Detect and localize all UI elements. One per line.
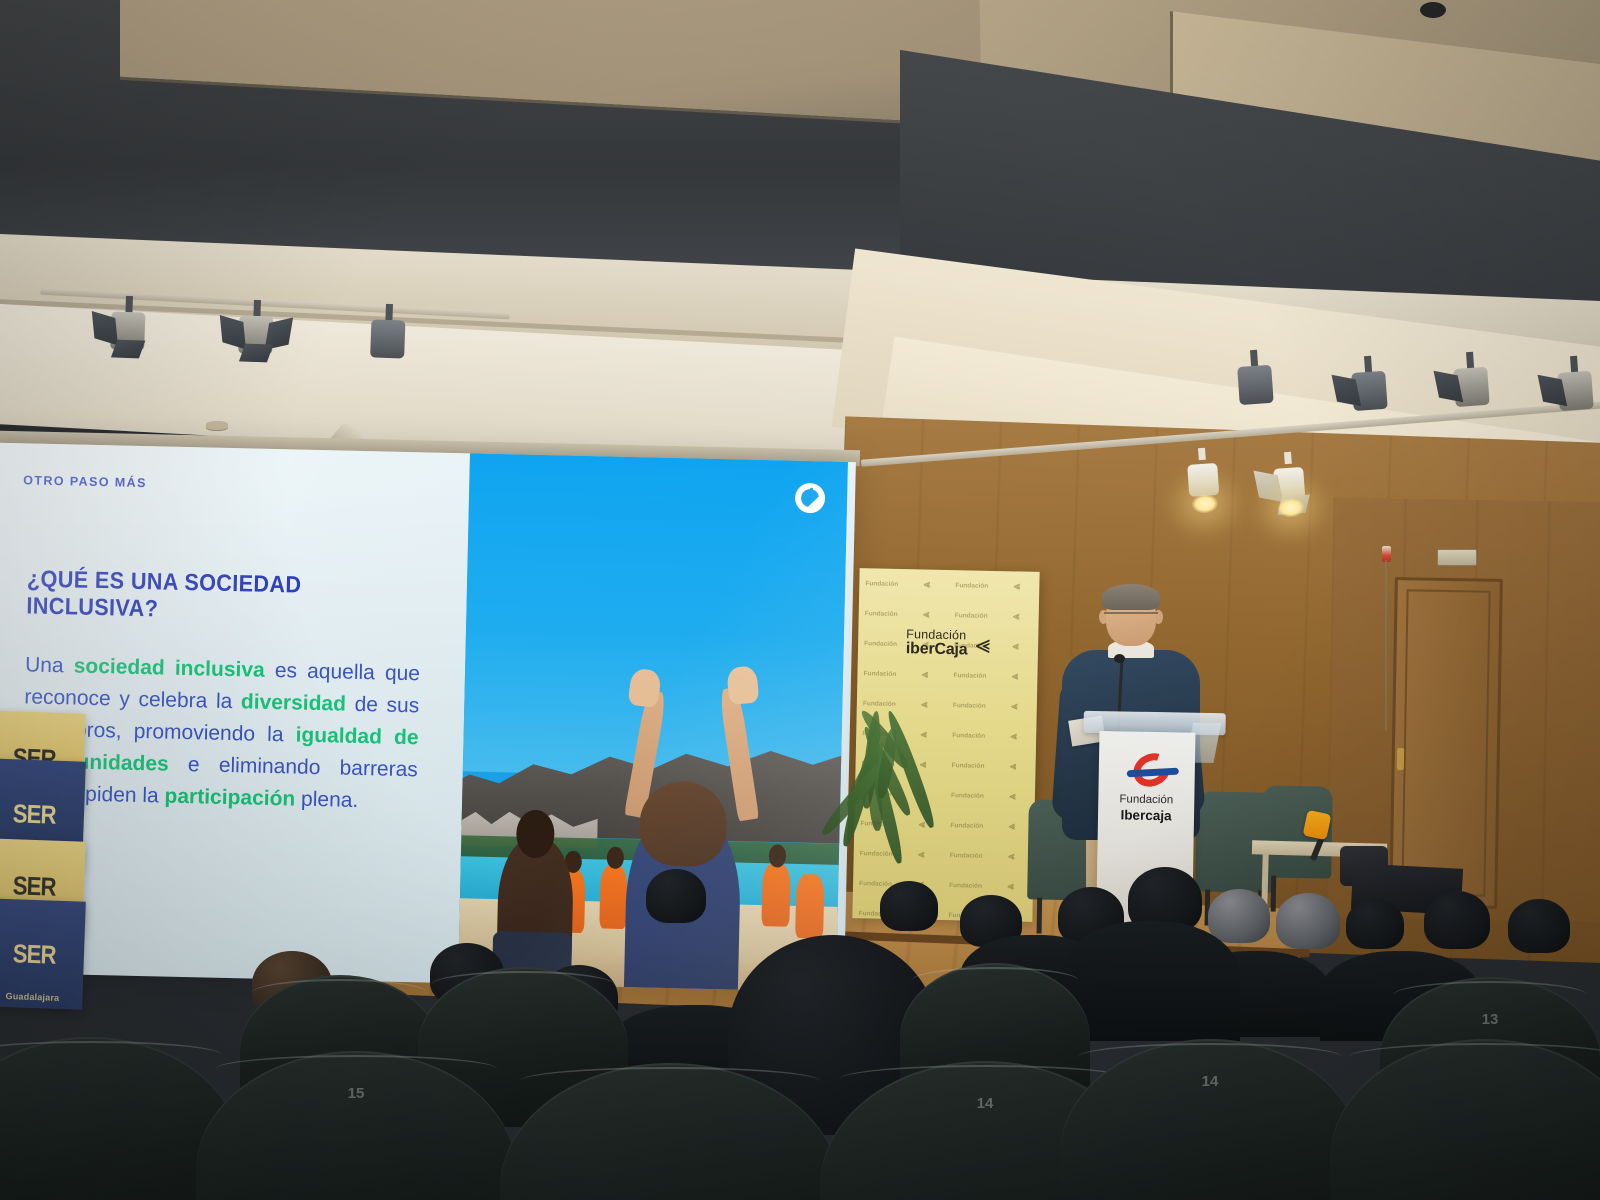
lectern-line-2: Ibercaja (1098, 807, 1194, 824)
banner-pattern-cell: ⪡ (902, 659, 948, 690)
banner-pattern-cell: Fundación (947, 660, 993, 691)
banner-line-2: iberCaja (906, 641, 968, 659)
audience-head (1208, 889, 1270, 943)
audience-head (646, 869, 706, 923)
seat-rim (252, 979, 428, 1007)
banner-pattern-glyph-icon: ⪡ (922, 669, 928, 680)
seat-rim (520, 1067, 819, 1095)
lamp-stem (1198, 448, 1206, 460)
banner-pattern-cell: ⪡ (991, 721, 1037, 752)
smoke-detector (206, 421, 228, 430)
banner-pattern-glyph-icon: ⪡ (924, 579, 930, 590)
indicator-rod (1385, 560, 1387, 730)
banner-pattern-glyph-icon: ⪡ (1013, 611, 1019, 622)
slide-highlight-term: diversidad (241, 690, 347, 715)
banner-pattern-cell: Fundación (859, 568, 905, 599)
seat-rim (0, 1041, 222, 1069)
ibercaja-logo-bar (1127, 768, 1179, 778)
banner-pattern-glyph-icon: ⪡ (1011, 701, 1017, 712)
banner-pattern-glyph-icon: ⪡ (1014, 581, 1020, 592)
banner-pattern-label: Fundación (865, 610, 898, 618)
banner-pattern-glyph-icon: ⪡ (1009, 821, 1015, 832)
seat-rim (911, 967, 1078, 995)
banner-pattern-glyph-icon: ⪡ (1012, 671, 1018, 682)
banner-pattern-glyph-icon: ⪡ (923, 609, 929, 620)
banner-pattern-label: Fundación (951, 792, 984, 800)
banner-pattern-glyph-icon: ⪡ (1010, 731, 1016, 742)
photo-crouching-man-head (516, 810, 555, 859)
seat-rim (1393, 981, 1587, 1009)
lectern-line-1: Fundación (1098, 793, 1194, 807)
banner-pattern-label: Fundación (955, 582, 988, 590)
slide-plain-text: Una (25, 653, 74, 677)
banner-pattern-cell: Fundación (946, 720, 992, 751)
banner-pattern-cell: Fundación (948, 600, 994, 631)
lamp-stem (1284, 452, 1292, 464)
slide-eyebrow: OTRO PASO MÁS (23, 473, 449, 497)
door-handle[interactable] (1397, 748, 1404, 770)
audience-head (1346, 899, 1404, 949)
banner-pattern-cell: Fundación (945, 750, 991, 781)
banner-pattern-glyph-icon: ⪡ (920, 759, 926, 770)
slide-highlight-term: participación (164, 784, 295, 810)
audience-head (1508, 899, 1570, 953)
banner-pattern-cell: ⪡ (992, 661, 1038, 692)
seat-number: 13 (1380, 1011, 1600, 1028)
seat-number: 15 (196, 1085, 516, 1102)
banner-pattern-label: Fundación (863, 670, 896, 678)
auditorium-photo: OTRO PASO MÁS ¿QUÉ ES UNA SOCIEDAD INCLU… (0, 0, 1600, 1200)
banner-main-logo: Fundación iberCaja ⪡ (858, 626, 1039, 662)
banner-pattern-cell: ⪡ (904, 569, 950, 600)
banner-pattern-label: Fundación (955, 612, 988, 620)
emergency-light-box (1437, 549, 1477, 566)
audience-head (1424, 891, 1490, 949)
ibercaja-logo (1127, 754, 1180, 789)
banner-pattern-cell: Fundación (949, 570, 995, 601)
glasses-icon (1104, 612, 1158, 621)
banner-pattern-label: Fundación (952, 762, 985, 770)
banner-pattern-label: Fundación (952, 732, 985, 740)
banner-pattern-cell: Fundación (857, 658, 903, 689)
seat-number: 14 (1060, 1073, 1360, 1090)
slide-plain-text: plena. (295, 787, 359, 811)
banner-pattern-label: Fundación (950, 822, 983, 830)
banner-pattern-cell: ⪡ (903, 599, 949, 630)
seat-rim (215, 1055, 497, 1083)
audience-area: 13151414 (0, 855, 1600, 1200)
ser-board-label: SER (12, 798, 56, 830)
banner-pattern-cell: Fundación (944, 810, 990, 841)
banner-pattern-cell: ⪡ (992, 691, 1038, 722)
banner-pattern-glyph-icon: ⪡ (1010, 761, 1016, 772)
banner-pattern-cell: ⪡ (994, 571, 1040, 602)
audience-head (1276, 893, 1340, 949)
banner-pattern-label: Fundación (865, 580, 898, 588)
lamp-housing (1187, 463, 1219, 497)
banner-pattern-glyph-icon: ⪡ (921, 699, 927, 710)
banner-pattern-cell: ⪡ (990, 751, 1036, 782)
banner-pattern-glyph-icon: ⪡ (920, 729, 926, 740)
audience-head (880, 881, 938, 931)
banner-pattern-cell: ⪡ (902, 689, 948, 720)
banner-pattern-cell: Fundación (945, 780, 991, 811)
audience-seat[interactable] (1330, 1039, 1600, 1200)
slide-highlight-term: sociedad inclusiva (73, 654, 265, 681)
banner-pattern-label: Fundación (953, 702, 986, 710)
ceiling-speaker-grille (1420, 2, 1446, 18)
seat-rim (1349, 1043, 1600, 1071)
banner-pattern-cell: ⪡ (993, 601, 1039, 632)
audience-seat[interactable] (500, 1063, 840, 1200)
lectern-microphone-head (1114, 654, 1125, 663)
lamp-housing (370, 319, 405, 358)
ibercaja-glyph-icon: ⪡ (975, 629, 990, 661)
presenter-hair (1102, 584, 1160, 610)
seat-rim (1078, 1043, 1342, 1071)
seat-rim (431, 971, 616, 999)
lamp-housing (1237, 365, 1274, 405)
banner-pattern-cell: Fundación (858, 598, 904, 629)
audience-seat[interactable]: 14 (1060, 1039, 1360, 1200)
banner-pattern-glyph-icon: ⪡ (1009, 791, 1015, 802)
banner-pattern-cell: ⪡ (990, 781, 1036, 812)
slide-title: ¿QUÉ ES UNA SOCIEDAD INCLUSIVA? (26, 565, 414, 628)
banner-pattern-label: Fundación (953, 672, 986, 680)
banner-pattern-cell: Fundación (947, 690, 993, 721)
audience-seat[interactable]: 15 (196, 1051, 516, 1200)
